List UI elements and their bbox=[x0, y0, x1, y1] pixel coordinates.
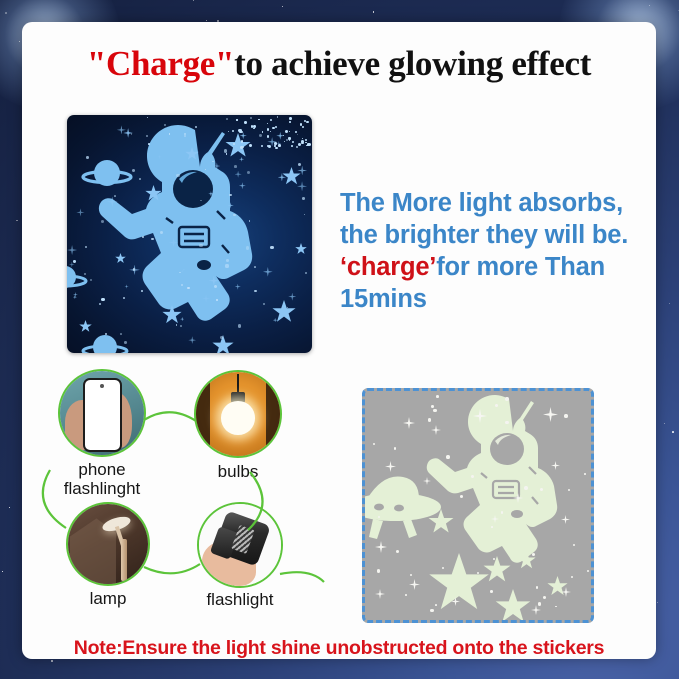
background-star bbox=[51, 660, 52, 661]
content-card: "Charge"to achieve glowing effect bbox=[22, 22, 656, 659]
ufo-sticker bbox=[365, 476, 441, 539]
light-source-flashlight-label-line1: flashlight bbox=[206, 590, 273, 609]
note-text: Note:Ensure the light shine unobstructed… bbox=[22, 637, 656, 659]
description-line-3: ‘charge’for more Than bbox=[340, 251, 656, 283]
background-star bbox=[672, 431, 674, 433]
glow-in-dark-preview bbox=[67, 115, 312, 353]
phone-icon bbox=[83, 378, 122, 453]
bulb-dark-edge-right bbox=[266, 372, 280, 456]
description-line-1: The More light absorbs, bbox=[340, 187, 656, 219]
light-source-lamp-label-line1: lamp bbox=[90, 589, 127, 608]
headline-quoted-word: "Charge" bbox=[87, 44, 234, 83]
light-source-phone-label-line1: phone bbox=[78, 460, 125, 479]
description-charge-word: ‘charge’ bbox=[340, 253, 436, 281]
description-text: The More light absorbs, the brighter the… bbox=[340, 187, 656, 315]
white-dot bbox=[584, 473, 586, 475]
background-star bbox=[9, 507, 10, 508]
page-title: "Charge"to achieve glowing effect bbox=[22, 46, 656, 81]
hanging-bulb-icon bbox=[221, 401, 255, 435]
light-source-phone-label: phone flashlinght bbox=[38, 460, 166, 498]
white-dot bbox=[505, 421, 508, 424]
description-line-3-rest: for more Than bbox=[436, 253, 605, 281]
background-star bbox=[206, 20, 207, 21]
light-source-phone[interactable] bbox=[58, 369, 146, 457]
light-source-bulbs-label-line1: bulbs bbox=[218, 462, 259, 481]
planet-shapes bbox=[67, 115, 312, 353]
white-dot bbox=[490, 590, 493, 593]
white-dot bbox=[536, 586, 539, 589]
light-source-flashlight-label: flashlight bbox=[180, 590, 300, 609]
background-star bbox=[193, 0, 194, 1]
white-dot bbox=[435, 604, 437, 606]
background-star bbox=[2, 571, 3, 572]
product-infographic: "Charge"to achieve glowing effect bbox=[0, 0, 679, 679]
white-dot bbox=[543, 596, 546, 599]
white-dot bbox=[433, 409, 437, 413]
background-star bbox=[373, 11, 374, 12]
white-dot bbox=[431, 405, 434, 408]
white-dot bbox=[396, 550, 399, 553]
white-dot bbox=[524, 486, 528, 490]
headline-rest: to achieve glowing effect bbox=[234, 44, 591, 83]
white-dot bbox=[501, 511, 504, 514]
background-star bbox=[669, 303, 670, 304]
phone-camera-dot bbox=[100, 384, 104, 388]
white-dot bbox=[538, 602, 542, 606]
white-dot bbox=[564, 414, 568, 418]
background-star bbox=[664, 423, 665, 424]
bulb-dark-edge-left bbox=[196, 372, 210, 456]
white-dot bbox=[505, 397, 509, 401]
light-source-flashlight[interactable] bbox=[197, 502, 283, 588]
white-dot bbox=[491, 526, 493, 528]
description-line-4: 15mins bbox=[340, 283, 656, 315]
background-star bbox=[657, 602, 658, 603]
daylight-sticker-preview bbox=[362, 388, 594, 623]
light-source-lamp-label: lamp bbox=[62, 589, 154, 608]
background-star bbox=[282, 6, 283, 7]
description-line-2: the brighter they will be. bbox=[340, 219, 656, 251]
bulb-cord bbox=[237, 374, 239, 394]
light-source-lamp[interactable] bbox=[66, 502, 150, 586]
light-source-bulbs[interactable] bbox=[194, 370, 282, 458]
light-source-bulbs-label: bulbs bbox=[188, 462, 288, 481]
light-source-phone-label-line2: flashlinght bbox=[64, 479, 141, 498]
lamp-post bbox=[121, 539, 127, 581]
background-star bbox=[16, 220, 18, 222]
